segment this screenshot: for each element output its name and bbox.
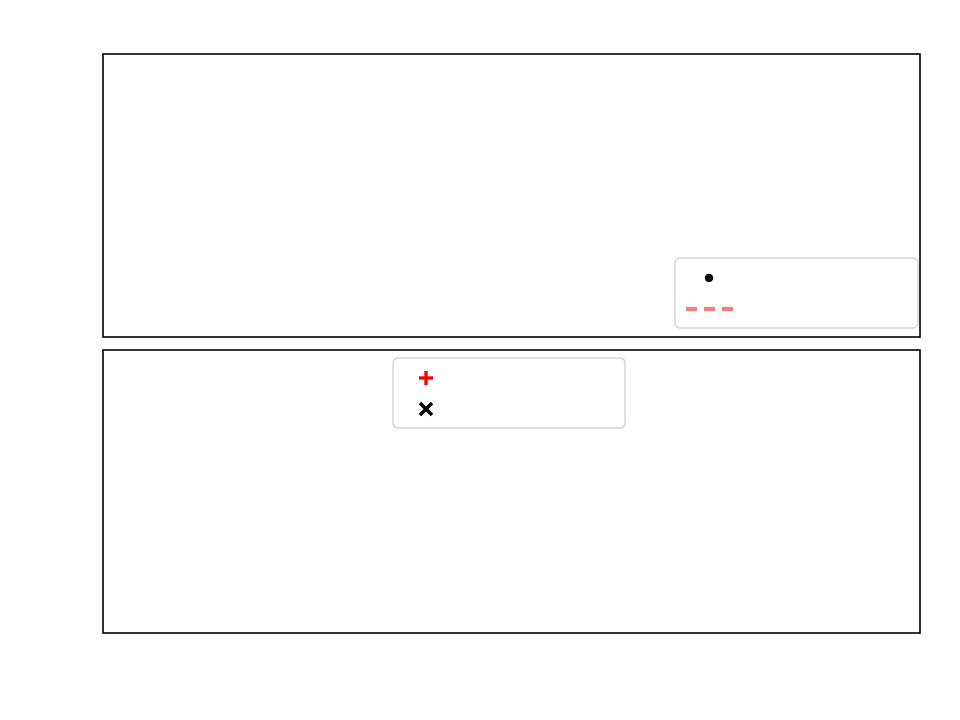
bottom-legend-box bbox=[393, 358, 625, 428]
figure-container bbox=[0, 0, 960, 720]
measurements-marker-icon bbox=[705, 274, 713, 282]
chart-canvas bbox=[0, 0, 960, 720]
top-legend-box bbox=[675, 258, 918, 328]
bottom-legend[interactable] bbox=[393, 358, 625, 428]
top-legend[interactable] bbox=[675, 258, 918, 328]
